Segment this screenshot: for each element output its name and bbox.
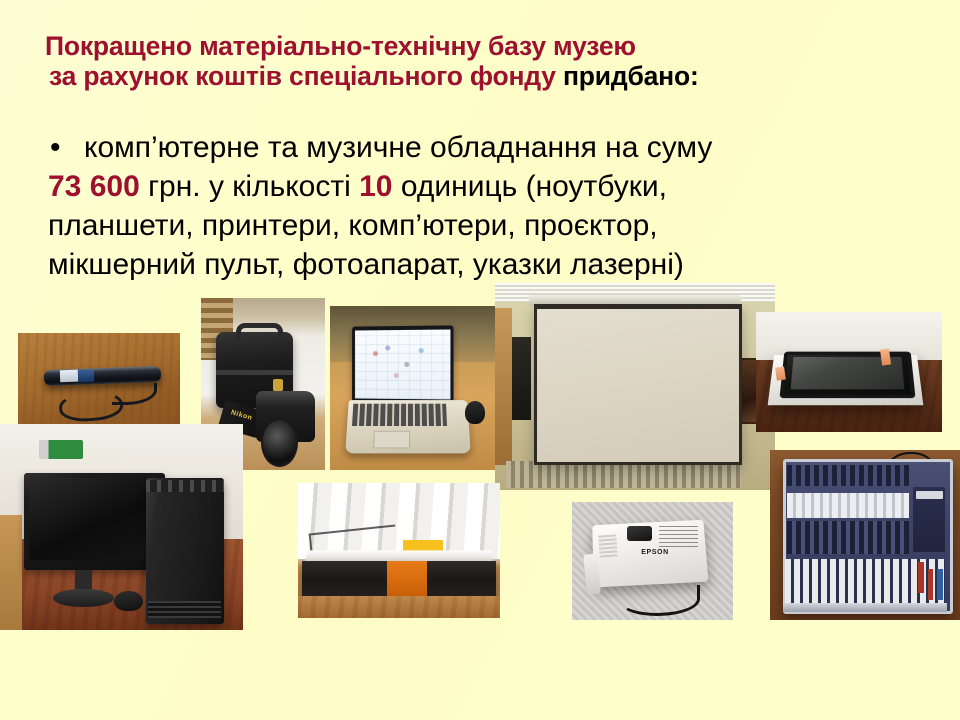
tablet-device: [779, 351, 915, 397]
mixer-fader-red-1: [918, 562, 924, 593]
laptop-photo: [330, 306, 495, 470]
projector-vent: [599, 534, 618, 558]
laser-label-band: [60, 370, 78, 383]
laser-pointer-photo: [18, 333, 180, 426]
tablet-photo: [756, 312, 942, 432]
projection-screen-photo: [495, 283, 775, 490]
mixer-knob-row-top: [787, 465, 909, 485]
printer-box-photo: [298, 483, 500, 618]
projector-spec-label: [659, 526, 698, 550]
wooden-wardrobe: [495, 308, 512, 465]
laser-blue-band: [78, 370, 95, 383]
computer-mouse: [114, 591, 143, 612]
box-orange-panel: [387, 561, 427, 596]
body-line-2: 73 600 грн. у кількості 10 одиниць (ноут…: [48, 167, 934, 206]
laptop-touchpad: [373, 431, 410, 448]
bullet-list-item: • комп’ютерне та музичне обладнання на с…: [44, 128, 934, 284]
title-line-1: Покращено матеріально-технічну базу музе…: [45, 32, 915, 62]
mixer-brand-plate: [916, 491, 943, 500]
presentation-slide: Покращено матеріально-технічну базу музе…: [0, 0, 960, 720]
usb-flash-drive: [39, 440, 83, 459]
tablet-clip-right: [880, 349, 891, 366]
mixer-front-rail: [783, 603, 946, 612]
count-value: 10: [359, 170, 392, 203]
amount-value: 73 600: [48, 170, 140, 203]
epson-projector-photo: EPSON: [572, 502, 733, 620]
title-line-2-black: придбано:: [563, 61, 699, 91]
projector-lens: [627, 526, 653, 541]
mixer-fader-red-2: [928, 569, 934, 600]
laser-cord: [112, 383, 157, 405]
wooden-floor: [298, 596, 500, 618]
wooden-cabinet: [0, 515, 22, 630]
slide-body: • комп’ютерне та музичне обладнання на с…: [44, 128, 934, 284]
desktop-computer-photo: [0, 424, 243, 630]
slide-title: Покращено матеріально-технічну базу музе…: [45, 32, 915, 91]
philips-monitor: [24, 473, 165, 570]
body-line-4: мікшерний пульт, фотоапарат, указки лазе…: [48, 245, 934, 284]
screen-canvas: [534, 304, 742, 465]
camera-bag-tag: [273, 379, 283, 391]
title-line-2: за рахунок коштів спеціального фонду при…: [45, 62, 915, 92]
camera-bag-seam: [216, 370, 293, 375]
radiator: [506, 461, 741, 488]
laptop-mouse: [465, 401, 485, 424]
title-line-2-red: за рахунок коштів спеціального фонду: [49, 61, 563, 91]
mixer-fader-blue: [937, 569, 943, 600]
laptop-keyboard: [351, 404, 446, 426]
tower-vent-grille: [148, 601, 221, 617]
laptop-base: [345, 400, 471, 453]
mixer-knob-row-white: [787, 493, 909, 519]
chalkboard: [512, 337, 532, 420]
laptop-lid: [353, 325, 455, 403]
tower-front-ports: [146, 480, 224, 492]
bullet-text: комп’ютерне та музичне обладнання на сум…: [84, 128, 934, 284]
laptop-screen: [355, 329, 451, 399]
amount-suffix: грн. у кількості: [140, 170, 359, 203]
audio-mixer-photo: [770, 450, 960, 620]
mixer-knob-row-lower: [787, 521, 909, 553]
count-suffix: одиниць (ноутбуки,: [393, 170, 667, 203]
body-line-1: комп’ютерне та музичне обладнання на сум…: [84, 128, 934, 167]
body-line-3: планшети, принтери, комп’ютери, проєктор…: [48, 206, 934, 245]
projector-power-cord: [620, 585, 700, 616]
epson-brand-text: EPSON: [641, 549, 676, 560]
camera-lens: [261, 418, 298, 467]
bullet-marker: •: [44, 128, 84, 167]
